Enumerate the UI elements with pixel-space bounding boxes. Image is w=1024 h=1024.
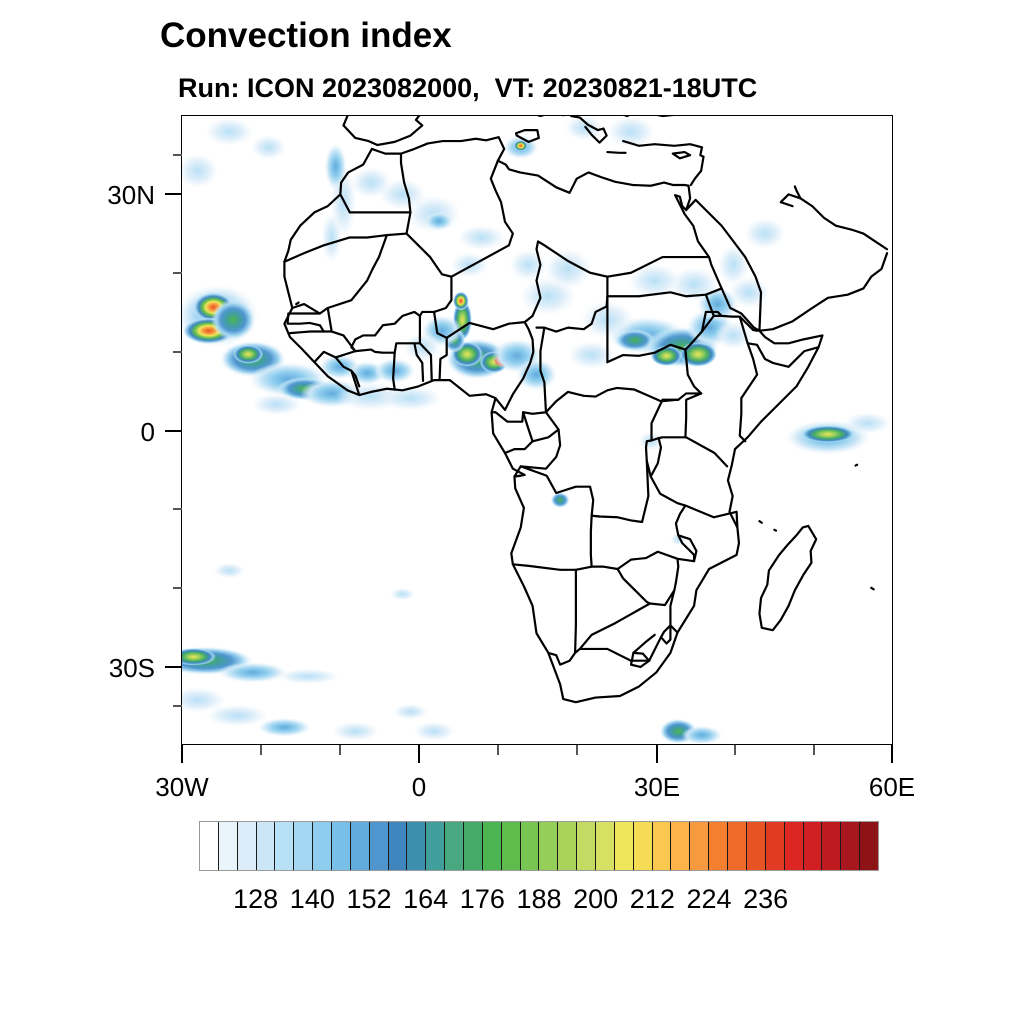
x-major-tick-30w [181, 745, 183, 763]
x-minor-tick [339, 745, 341, 755]
colorbar-segment [521, 822, 540, 870]
x-minor-tick [813, 745, 815, 755]
colorbar-segment [464, 822, 483, 870]
y-major-tick-30s [165, 666, 182, 668]
map-plot-area [181, 115, 893, 745]
colorbar-segment [294, 822, 313, 870]
colorbar-segment [370, 822, 389, 870]
colorbar-segment [747, 822, 766, 870]
convection-index-field [182, 116, 891, 743]
colorbar-segment [596, 822, 615, 870]
x-major-tick-30e [656, 745, 658, 763]
y-minor-tick [173, 508, 182, 510]
colorbar-segment [653, 822, 672, 870]
x-minor-tick [734, 745, 736, 755]
colorbar-segment [539, 822, 558, 870]
x-tick-label-30e: 30E [597, 772, 717, 803]
colorbar-segment [822, 822, 841, 870]
colorbar-segment [709, 822, 728, 870]
x-tick-label-0: 0 [359, 772, 479, 803]
colorbar-segment [728, 822, 747, 870]
y-minor-tick [173, 587, 182, 589]
y-major-tick-30n [165, 193, 182, 195]
x-minor-tick [260, 745, 262, 755]
colorbar-segment [332, 822, 351, 870]
x-minor-tick [576, 745, 578, 755]
x-tick-label-60e: 60E [832, 772, 952, 803]
colorbar-segment [275, 822, 294, 870]
x-major-tick-0 [418, 745, 420, 763]
colorbar-segment [389, 822, 408, 870]
colorbar-segment [577, 822, 596, 870]
map-canvas [182, 116, 891, 743]
y-minor-tick [173, 154, 182, 156]
colorbar-segment [313, 822, 332, 870]
run-valid-time-subtitle: Run: ICON 2023082000, VT: 20230821-18UTC [178, 73, 978, 104]
colorbar-segment [766, 822, 785, 870]
x-major-tick-60e [891, 745, 893, 763]
y-tick-label-30n: 30N [35, 180, 155, 211]
colorbar-segment [351, 822, 370, 870]
colorbar-segment [445, 822, 464, 870]
colorbar-segment [860, 822, 878, 870]
x-tick-label-30w: 30W [122, 772, 242, 803]
colorbar-segment [426, 822, 445, 870]
y-major-tick-0 [165, 430, 182, 432]
colorbar [199, 821, 879, 871]
y-tick-label-30s: 30S [35, 653, 155, 684]
colorbar-segment [407, 822, 426, 870]
y-minor-tick [173, 705, 182, 707]
colorbar-segment [257, 822, 276, 870]
colorbar-segment [219, 822, 238, 870]
colorbar-segment [634, 822, 653, 870]
colorbar-segment [502, 822, 521, 870]
colorbar-segment [615, 822, 634, 870]
x-minor-tick [497, 745, 499, 755]
page-title: Convection index [160, 16, 940, 56]
colorbar-segment [483, 822, 502, 870]
colorbar-segment [804, 822, 823, 870]
y-minor-tick [173, 272, 182, 274]
colorbar-segment [238, 822, 257, 870]
y-minor-tick [173, 351, 182, 353]
colorbar-segment [200, 822, 219, 870]
y-tick-label-0: 0 [35, 417, 155, 448]
colorbar-segment [671, 822, 690, 870]
colorbar-segment [841, 822, 860, 870]
colorbar-segment [785, 822, 804, 870]
colorbar-tick-label: 236 [721, 884, 811, 915]
colorbar-segment [690, 822, 709, 870]
colorbar-segment [558, 822, 577, 870]
convection-index-figure: Convection index Run: ICON 2023082000, V… [0, 0, 1024, 1024]
